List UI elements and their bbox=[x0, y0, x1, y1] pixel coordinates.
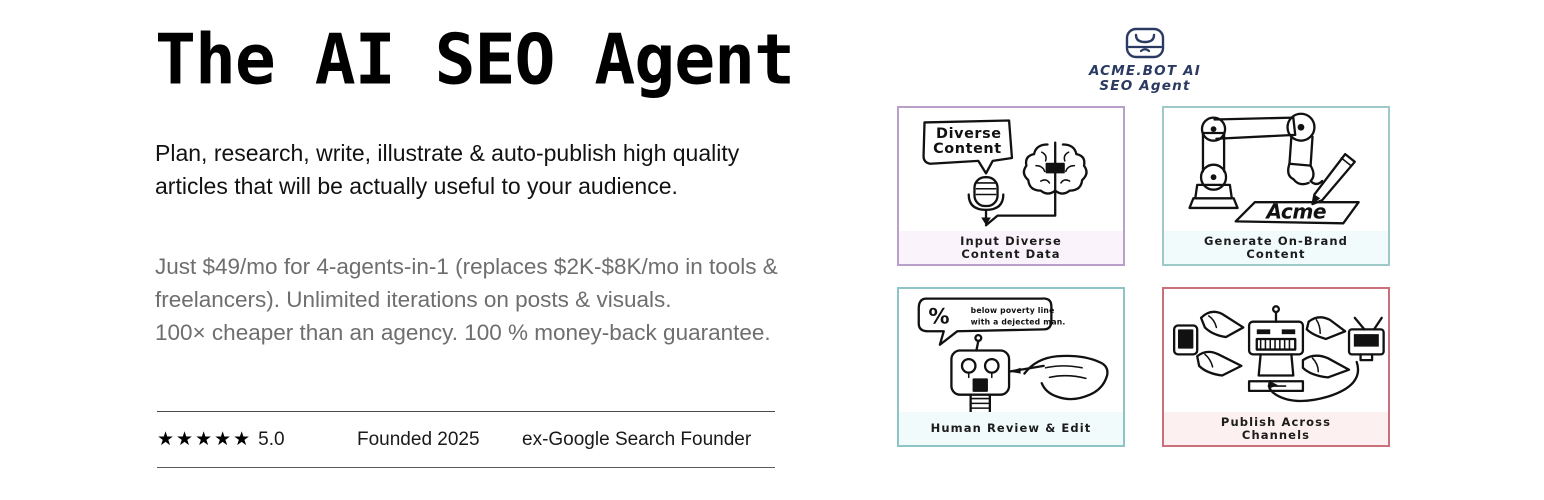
card-2-caption-line-1: Generate On-Brand bbox=[1204, 234, 1348, 248]
card-1-caption-line-2: Content Data bbox=[961, 247, 1060, 261]
card-input-diverse-content-data[interactable]: Diverse Content AI bbox=[897, 106, 1125, 266]
card-3-illustration: % below poverty line with a dejected man… bbox=[899, 289, 1123, 412]
rating-value: 5.0 bbox=[258, 429, 284, 451]
card-2-caption-line-2: Content bbox=[1246, 247, 1305, 261]
card-1-caption-line-1: Input Diverse bbox=[960, 234, 1062, 248]
robot-head-icon bbox=[1124, 26, 1166, 60]
brand-lockup: ACME.BOT AI SEO Agent bbox=[880, 26, 1410, 94]
hero-detail-line-2: 100× cheaper than an agency. 100 % money… bbox=[155, 320, 771, 345]
stat-founder: ex-Google Search Founder bbox=[522, 429, 751, 451]
card-publish-across-channels[interactable]: Publish AcrossChannels bbox=[1162, 287, 1390, 447]
hero-detail-line-1: Just $49/mo for 4-agents-in-1 (replaces … bbox=[155, 254, 778, 312]
bubble-note-1: below poverty line bbox=[971, 306, 1055, 315]
product-illustration-panel: ACME.BOT AI SEO Agent Diverse Content bbox=[880, 0, 1410, 500]
stat-rating: ★★★★★ 5.0 bbox=[157, 429, 357, 451]
brand-name-line-2: SEO Agent bbox=[880, 79, 1410, 94]
stats-row: ★★★★★ 5.0 Founded 2025 ex-Google Search … bbox=[157, 412, 775, 467]
card-4-caption-line-1: Publish Across bbox=[1221, 415, 1331, 429]
bubble-line-2: Content bbox=[933, 141, 1002, 157]
card-human-review-and-edit[interactable]: % below poverty line with a dejected man… bbox=[897, 287, 1125, 447]
hero-detail: Just $49/mo for 4-agents-in-1 (replaces … bbox=[155, 203, 805, 349]
bubble-line-1: Diverse bbox=[936, 126, 1002, 142]
card-1-caption: Input DiverseContent Data bbox=[899, 231, 1123, 264]
brain-label: AI bbox=[1051, 164, 1060, 173]
card-generate-on-brand-content[interactable]: Acme Generate On-BrandContent bbox=[1162, 106, 1390, 266]
stats-bar: ★★★★★ 5.0 Founded 2025 ex-Google Search … bbox=[157, 411, 775, 468]
star-rating-icon: ★★★★★ bbox=[157, 430, 252, 449]
brand-name-line-1: ACME.BOT AI bbox=[880, 64, 1410, 79]
card-2-illustration: Acme bbox=[1164, 108, 1388, 231]
hero-column: The AI SEO Agent Plan, research, write, … bbox=[155, 0, 855, 500]
stats-divider-bottom bbox=[157, 467, 775, 468]
speech-bubble-microphone-brain-icon: Diverse Content AI bbox=[899, 108, 1123, 231]
feature-card-grid: Diverse Content AI bbox=[897, 106, 1402, 447]
card-2-caption: Generate On-BrandContent bbox=[1164, 231, 1388, 264]
robot-with-human-hand-pen-icon: % below poverty line with a dejected man… bbox=[899, 289, 1123, 412]
card-4-illustration bbox=[1164, 289, 1388, 412]
card-1-illustration: Diverse Content AI bbox=[899, 108, 1123, 231]
bubble-note-2: with a dejected man. bbox=[971, 318, 1066, 327]
card-3-caption-line-1: Human Review & Edit bbox=[931, 421, 1092, 435]
written-word: Acme bbox=[1264, 200, 1326, 224]
card-3-caption: Human Review & Edit bbox=[899, 412, 1123, 445]
stat-founded: Founded 2025 bbox=[357, 429, 522, 451]
brand-name: ACME.BOT AI SEO Agent bbox=[880, 64, 1410, 94]
robot-megaphones-devices-icon bbox=[1164, 289, 1388, 412]
bubble-symbol: % bbox=[928, 304, 949, 329]
robot-arm-writing-icon: Acme bbox=[1164, 108, 1388, 231]
card-4-caption: Publish AcrossChannels bbox=[1164, 412, 1388, 445]
page-title: The AI SEO Agent bbox=[155, 0, 855, 96]
card-4-caption-line-2: Channels bbox=[1242, 428, 1310, 442]
hero-subhead: Plan, research, write, illustrate & auto… bbox=[155, 94, 755, 203]
